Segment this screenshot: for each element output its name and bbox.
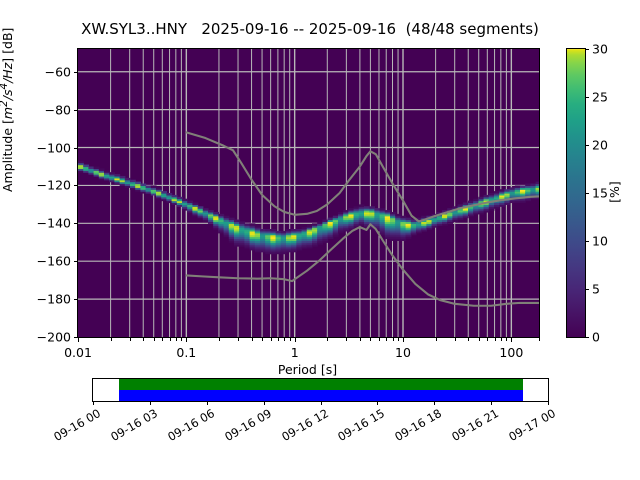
y-axis-tick-label: −160 [37, 254, 71, 269]
x-axis-minor-tick [327, 338, 328, 341]
colorbar-tick [585, 241, 589, 242]
coverage-tick-label: 09-17 00 [506, 406, 558, 444]
x-axis-minor-tick [278, 338, 279, 341]
colorbar-tick-label: 20 [592, 138, 608, 153]
x-axis-minor-tick [162, 338, 163, 341]
x-axis-minor-tick [398, 338, 399, 341]
coverage-tick [150, 401, 151, 405]
x-axis-major-tick [511, 338, 512, 342]
x-axis-minor-tick [181, 338, 182, 341]
coverage-tick-label: 09-16 21 [449, 406, 501, 444]
colorbar: 051015202530 [566, 48, 586, 338]
coverage-tick [491, 401, 492, 405]
coverage-tick [321, 401, 322, 405]
colorbar-tick-label: 5 [592, 282, 600, 297]
x-axis-minor-tick [436, 338, 437, 341]
x-axis-minor-tick [360, 338, 361, 341]
figure-title: XW.SYL3..HNY 2025-09-16 -- 2025-09-16 (4… [0, 20, 620, 38]
y-axis-tick-label: −100 [37, 140, 71, 155]
y-axis-title: Amplitude [m2/s4/Hz] [dB] [0, 28, 15, 192]
colorbar-tick [585, 289, 589, 290]
y-axis-title-pre: Amplitude [ [0, 119, 15, 192]
psd-coverage-bar [119, 390, 523, 401]
coverage-tick [93, 401, 94, 405]
x-axis-major-tick [403, 338, 404, 342]
segment-coverage-bar [119, 379, 523, 390]
x-axis-minor-tick [143, 338, 144, 341]
x-axis-minor-tick [219, 338, 220, 341]
x-axis-minor-tick [370, 338, 371, 341]
x-axis-title: Period [s] [77, 362, 538, 377]
coverage-tick-label: 09-16 03 [108, 406, 160, 444]
x-axis-tick-label: 0.01 [64, 345, 92, 360]
y-axis-tick-label: −120 [37, 178, 71, 193]
colorbar-tick-label: 10 [592, 234, 608, 249]
colorbar-tick [585, 193, 589, 194]
y-axis-tick [74, 185, 78, 186]
y-axis-tick-label: −60 [45, 64, 71, 79]
coverage-tick-label: 09-16 06 [165, 406, 217, 444]
x-axis-minor-tick [238, 338, 239, 341]
coverage-tick-label: 09-16 12 [279, 406, 331, 444]
y-axis-title-units: m2/s4/Hz [0, 63, 15, 119]
y-axis-tick [74, 72, 78, 73]
colorbar-tick [585, 337, 589, 338]
y-axis-tick [74, 148, 78, 149]
x-axis-minor-tick [479, 338, 480, 341]
y-axis-tick [74, 261, 78, 262]
coverage-axes [92, 378, 549, 402]
colorbar-tick [585, 97, 589, 98]
y-axis-tick [74, 299, 78, 300]
colorbar-tick [585, 145, 589, 146]
x-axis-minor-tick [455, 338, 456, 341]
x-axis-minor-tick [284, 338, 285, 341]
x-axis-tick-label: 0.1 [176, 345, 196, 360]
x-axis-minor-tick [170, 338, 171, 341]
x-axis-minor-tick [111, 338, 112, 341]
x-axis-major-tick [295, 338, 296, 342]
coverage-tick [264, 401, 265, 405]
ppsd-plot-axes: 0.010.1110100 −60−80−100−120−140−160−180… [77, 48, 540, 338]
ppsd-plot-canvas [78, 49, 539, 337]
x-axis-minor-tick [495, 338, 496, 341]
coverage-tick [377, 401, 378, 405]
colorbar-tick [585, 49, 589, 50]
x-axis-minor-tick [539, 338, 540, 341]
y-axis-tick [74, 223, 78, 224]
colorbar-tick-label: 15 [592, 186, 608, 201]
x-axis-minor-tick [154, 338, 155, 341]
x-axis-minor-tick [487, 338, 488, 341]
coverage-tick [207, 401, 208, 405]
y-axis-tick-label: −140 [37, 216, 71, 231]
x-axis-minor-tick [386, 338, 387, 341]
colorbar-tick-label: 25 [592, 90, 608, 105]
colorbar-tick-label: 30 [592, 42, 608, 57]
x-axis-minor-tick [506, 338, 507, 341]
coverage-tick-label: 09-16 00 [51, 406, 103, 444]
colorbar-title: [%] [607, 181, 622, 203]
coverage-tick-label: 09-16 18 [392, 406, 444, 444]
y-axis-title-post: ] [dB] [0, 28, 15, 63]
ppsd-histogram [78, 49, 539, 337]
x-axis-minor-tick [130, 338, 131, 341]
x-axis-minor-tick [290, 338, 291, 341]
x-axis-tick-label: 1 [291, 345, 299, 360]
x-axis-minor-tick [346, 338, 347, 341]
x-axis-major-tick [78, 338, 79, 342]
y-axis-tick-label: −80 [45, 102, 71, 117]
coverage-tick-label: 09-16 15 [336, 406, 388, 444]
x-axis-minor-tick [176, 338, 177, 341]
x-axis-major-tick [186, 338, 187, 342]
coverage-tick [434, 401, 435, 405]
x-axis-minor-tick [379, 338, 380, 341]
x-axis-minor-tick [468, 338, 469, 341]
coverage-tick-label: 09-16 09 [222, 406, 274, 444]
y-axis-tick [74, 337, 78, 338]
y-axis-tick-label: −180 [37, 292, 71, 307]
coverage-tick [548, 401, 549, 405]
ppsd-figure: XW.SYL3..HNY 2025-09-16 -- 2025-09-16 (4… [0, 0, 640, 480]
x-axis-tick-label: 10 [395, 345, 411, 360]
colorbar-tick-label: 0 [592, 330, 600, 345]
y-axis-tick-label: −200 [37, 330, 71, 345]
x-axis-minor-tick [501, 338, 502, 341]
coverage-bars [93, 379, 548, 401]
y-axis-tick [74, 110, 78, 111]
x-axis-tick-label: 100 [499, 345, 523, 360]
x-axis-minor-tick [393, 338, 394, 341]
x-axis-minor-tick [262, 338, 263, 341]
x-axis-minor-tick [271, 338, 272, 341]
x-axis-minor-tick [252, 338, 253, 341]
